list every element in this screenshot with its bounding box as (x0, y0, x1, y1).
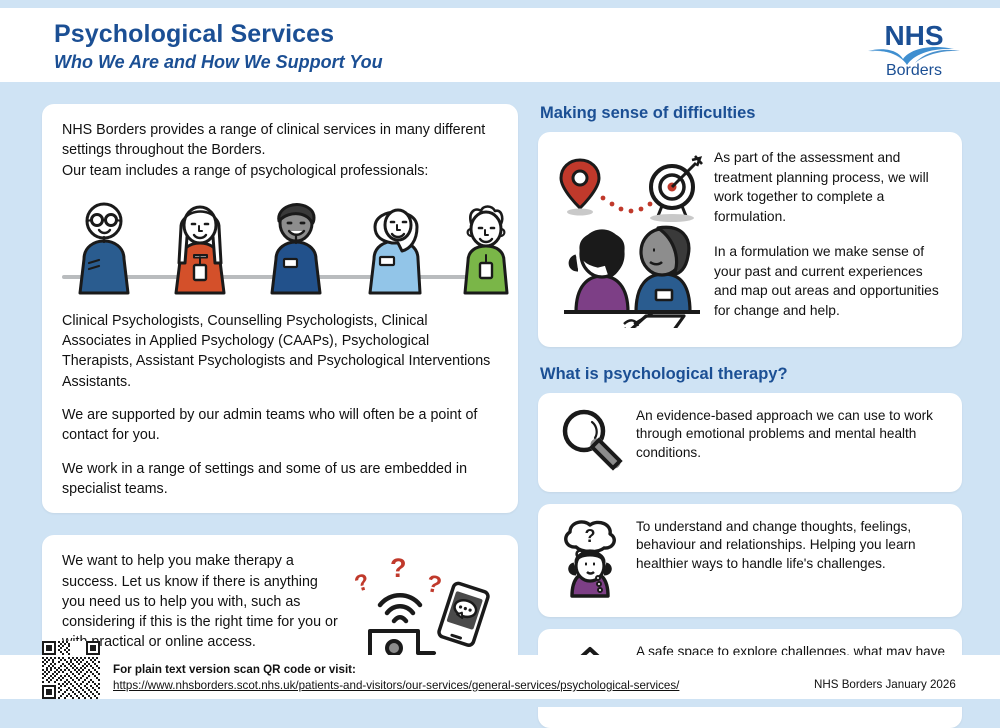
header-band: Psychological Services Who We Are and Ho… (0, 8, 1000, 82)
formulation-illustration (554, 148, 706, 333)
left-column: NHS Borders provides a range of clinical… (42, 104, 518, 688)
staff-figure-3 (272, 204, 320, 292)
therapy-card-evidence: An evidence-based approach we can use to… (538, 393, 962, 492)
magnifying-glass-icon (554, 407, 626, 478)
footer-band (0, 655, 1000, 699)
staff-figure-5 (465, 206, 507, 293)
formulation-text: As part of the assessment and treatment … (714, 148, 944, 321)
staff-figures-illustration (62, 197, 498, 297)
intro-paragraph-2: Our team includes a range of psychologic… (62, 161, 498, 181)
svg-text:?: ? (424, 570, 444, 599)
consultation-icon (564, 227, 700, 328)
formulation-paragraph-2: In a formulation we make sense of your p… (714, 242, 944, 320)
formulation-paragraph-1: As part of the assessment and treatment … (714, 148, 944, 226)
svg-text:?: ? (390, 553, 407, 583)
intro-paragraph-5: We work in a range of settings and some … (62, 459, 498, 500)
poster-page: Psychological Services Who We Are and Ho… (0, 0, 1000, 707)
qr-code (42, 641, 100, 699)
therapy-card-understand: ? To understand and ch (538, 504, 962, 617)
section-heading-what-is-therapy: What is psychological therapy? (540, 365, 962, 384)
bottom-strip (0, 699, 1000, 707)
right-column: Making sense of difficulties (538, 104, 962, 728)
therapy-card-evidence-text: An evidence-based approach we can use to… (636, 407, 946, 462)
intro-paragraph-3: Clinical Psychologists, Counselling Psyc… (62, 311, 498, 392)
svg-text:?: ? (351, 568, 372, 597)
nhs-logo-text: NHS (884, 20, 943, 51)
intro-paragraph-4: We are supported by our admin teams who … (62, 405, 498, 446)
staff-figure-1 (80, 204, 128, 293)
wifi-icon (380, 596, 420, 622)
pin-to-target-icon (561, 156, 702, 222)
svg-text:?: ? (585, 526, 596, 546)
support-text: We want to help you make therapy a succe… (62, 551, 344, 652)
intro-paragraph-1: NHS Borders provides a range of clinical… (62, 120, 498, 161)
page-title: Psychological Services (54, 20, 334, 49)
staff-figure-2 (176, 207, 224, 293)
footer-instruction: For plain text version scan QR code or v… (113, 663, 356, 676)
section-heading-making-sense: Making sense of difficulties (540, 104, 962, 123)
top-strip (0, 0, 1000, 8)
phone-icon (438, 582, 490, 646)
thought-bubble-person-icon: ? (554, 518, 626, 603)
footer-attribution: NHS Borders January 2026 (814, 678, 956, 691)
page-subtitle: Who We Are and How We Support You (54, 52, 383, 73)
staff-figure-4 (370, 210, 420, 293)
question-mark-icons: ? ? ? (351, 553, 443, 599)
nhs-logo-subtext: Borders (886, 62, 942, 79)
nhs-logo: NHS Borders (860, 18, 968, 80)
therapy-card-understand-text: To understand and change thoughts, feeli… (636, 518, 946, 573)
footer-url-link[interactable]: https://www.nhsborders.scot.nhs.uk/patie… (113, 679, 679, 692)
intro-card: NHS Borders provides a range of clinical… (42, 104, 518, 513)
formulation-card: As part of the assessment and treatment … (538, 132, 962, 347)
